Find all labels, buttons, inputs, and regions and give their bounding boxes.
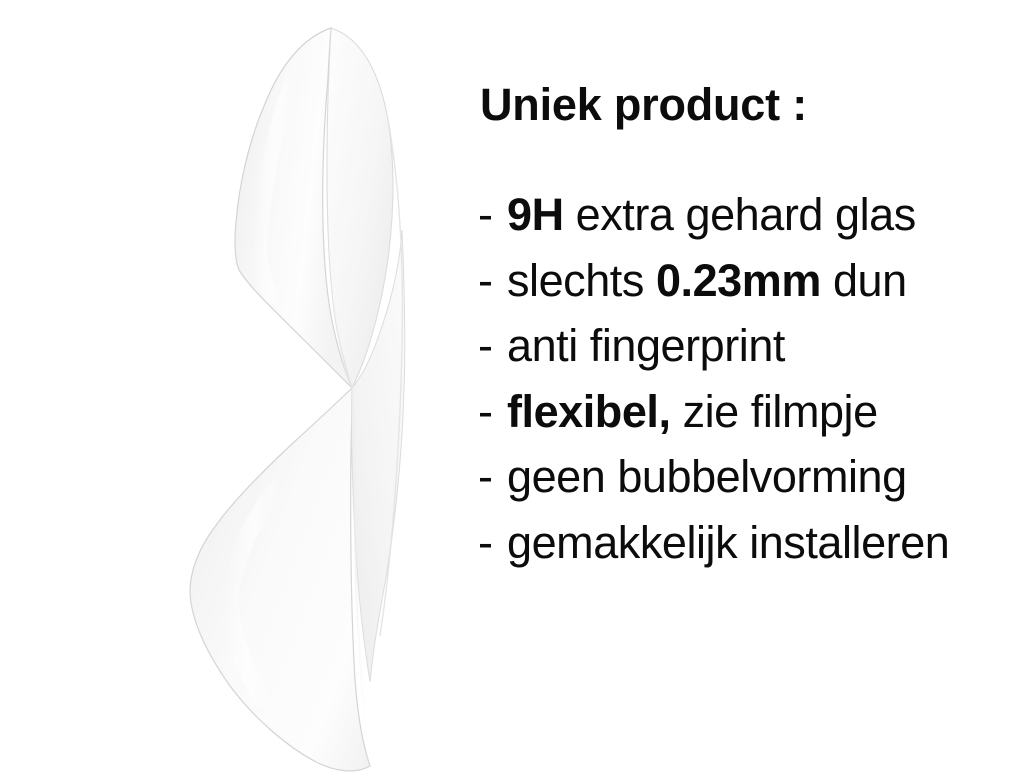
glass-lower-front-panel <box>190 388 370 771</box>
feature-text: zie filmpje <box>671 386 878 437</box>
feature-text: geen bubbelvorming <box>507 451 907 502</box>
feature-text: dun <box>821 255 907 306</box>
feature-text: anti fingerprint <box>507 320 785 371</box>
feature-bullet-dash: - <box>478 510 507 576</box>
feature-text: gemakkelijk installeren <box>507 517 949 568</box>
feature-item: -flexibel, zie filmpje <box>478 379 949 445</box>
tempered-glass-illustration <box>40 16 500 784</box>
product-image <box>40 16 500 784</box>
feature-text-emphasis: 0.23mm <box>656 255 821 306</box>
feature-list: -9H extra gehard glas-slechts 0.23mm dun… <box>478 182 949 575</box>
feature-item: -anti fingerprint <box>478 313 949 379</box>
product-promo-canvas: Uniek product : -9H extra gehard glas-sl… <box>0 0 1024 768</box>
marketing-copy: Uniek product : -9H extra gehard glas-sl… <box>470 0 1024 768</box>
feature-item: -gemakkelijk installeren <box>478 510 949 576</box>
feature-text: extra gehard glas <box>564 189 916 240</box>
feature-text-emphasis: flexibel, <box>507 386 671 437</box>
feature-bullet-dash: - <box>478 313 507 379</box>
feature-bullet-dash: - <box>478 444 507 510</box>
feature-bullet-dash: - <box>478 379 507 445</box>
feature-item: -9H extra gehard glas <box>478 182 949 248</box>
feature-text: slechts <box>507 255 656 306</box>
feature-item: -slechts 0.23mm dun <box>478 248 949 314</box>
feature-text-emphasis: 9H <box>507 189 564 240</box>
feature-item: -geen bubbelvorming <box>478 444 949 510</box>
feature-bullet-dash: - <box>478 182 507 248</box>
page-title: Uniek product : <box>480 82 807 127</box>
feature-bullet-dash: - <box>478 248 507 314</box>
